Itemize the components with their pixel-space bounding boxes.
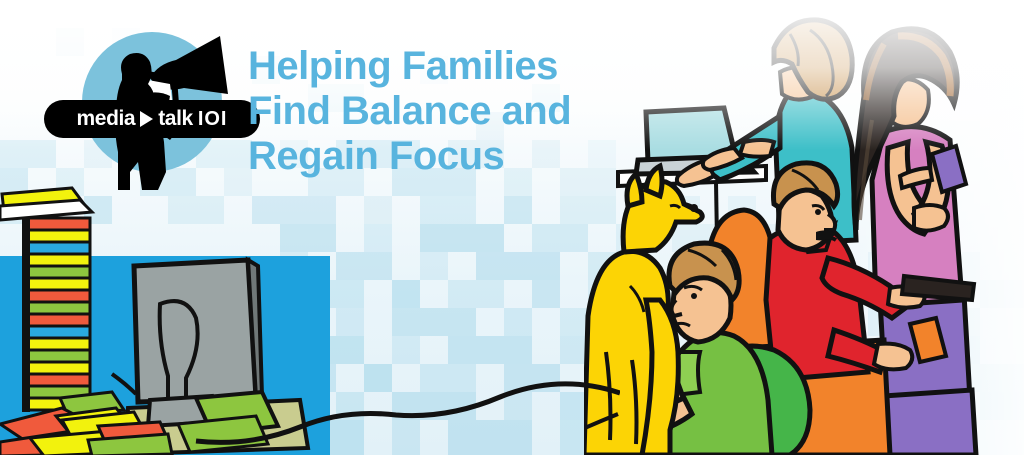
banner: media talk IOI Helping Families Find Bal… (0, 0, 1024, 455)
page-title: Helping Families Find Balance and Regain… (248, 44, 648, 179)
media-talk-101-logo[interactable]: media talk IOI (72, 22, 242, 192)
headline-line-2: Find Balance and (248, 89, 648, 134)
headline-line-3: Regain Focus (248, 134, 648, 179)
logo-word-media: media (77, 107, 136, 131)
logo-word-talk: talk (158, 107, 193, 131)
logo-word-101: IOI (198, 108, 228, 131)
family-on-devices-scene (584, 0, 1024, 455)
device-cable (0, 345, 620, 455)
play-triangle-icon (140, 111, 153, 127)
headline-line-1: Helping Families (248, 44, 648, 89)
logo-wordmark: media talk IOI (44, 100, 260, 138)
